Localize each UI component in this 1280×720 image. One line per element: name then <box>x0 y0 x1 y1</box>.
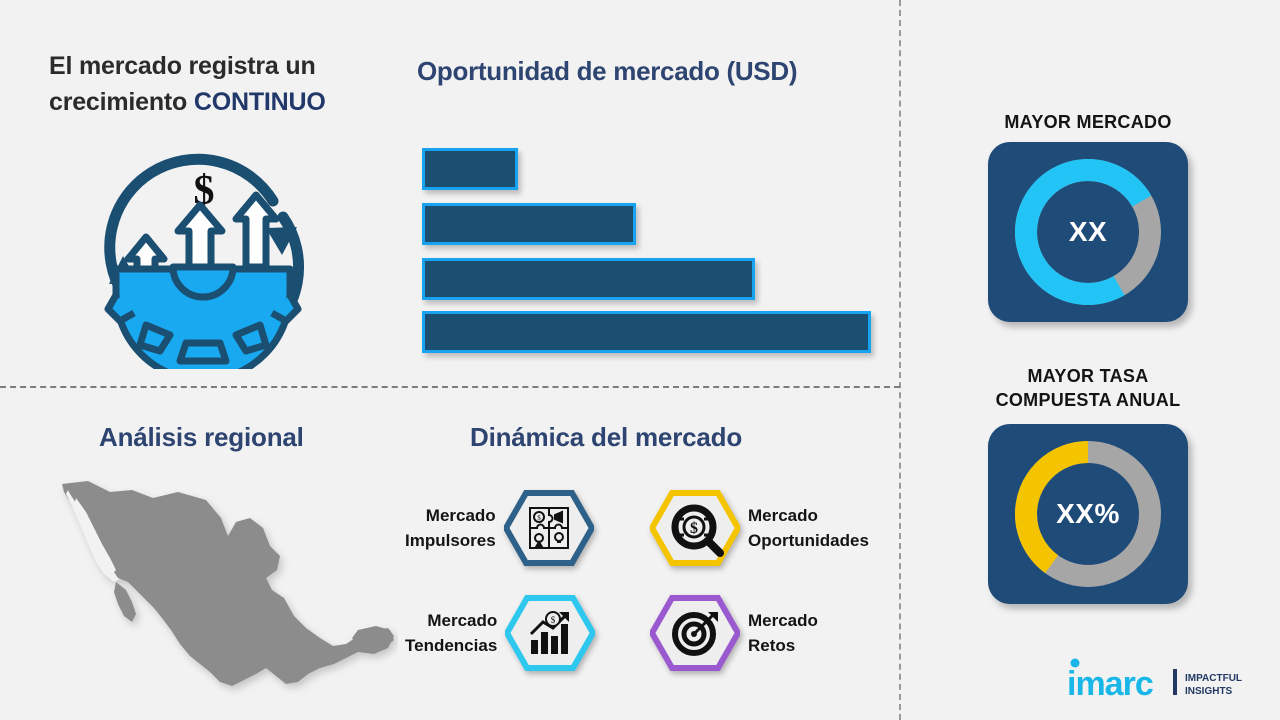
bar-2 <box>422 203 636 245</box>
logo-separator <box>1173 669 1177 695</box>
dynamics-item-challenges-label: MercadoRetos <box>748 608 818 659</box>
target-arrow-icon <box>650 594 740 672</box>
dynamics-item-opportunities[interactable]: $ MercadoOportunidades <box>650 489 869 567</box>
dynamics-item-trends[interactable]: MercadoTendencias $ <box>405 594 595 672</box>
mexico-map <box>58 478 398 700</box>
magnifier-dollar-icon: $ <box>650 489 740 567</box>
vertical-divider <box>899 0 901 720</box>
dynamics-item-opportunities-label: MercadoOportunidades <box>748 503 869 554</box>
stat-card-1-value: XX <box>988 142 1188 322</box>
region-heading: Análisis regional <box>99 422 399 453</box>
stat-card-2-title: MAYOR TASACOMPUESTA ANUAL <box>958 364 1218 413</box>
svg-text:$: $ <box>537 514 541 522</box>
puzzle-drivers-icon: $ <box>504 489 594 567</box>
opportunity-bar-chart <box>422 148 882 353</box>
growth-heading-line1: El mercado registra un <box>49 52 316 80</box>
dynamics-item-drivers[interactable]: MercadoImpulsores $ <box>405 489 594 567</box>
growth-heading: El mercado registra un crecimiento CONTI… <box>49 48 394 121</box>
bar-4 <box>422 311 871 353</box>
infographic-canvas: El mercado registra un crecimiento CONTI… <box>0 0 1280 720</box>
stat-card-1: XX <box>988 142 1188 322</box>
dynamics-item-drivers-label: MercadoImpulsores <box>405 503 496 554</box>
svg-text:$: $ <box>551 615 556 625</box>
logo-tagline-line1: IMPACTFUL <box>1185 673 1242 684</box>
dynamics-item-trends-label: MercadoTendencias <box>405 608 497 659</box>
bar-3 <box>422 258 755 300</box>
horizontal-divider <box>0 386 900 388</box>
svg-text:$: $ <box>690 520 698 537</box>
stat-card-1-title: MAYOR MERCADO <box>958 110 1218 134</box>
logo-tagline-line2: INSIGHTS <box>1185 686 1233 697</box>
dynamics-heading: Dinámica del mercado <box>470 422 890 453</box>
stat-card-2: XX% <box>988 424 1188 604</box>
imarc-logo: imarc IMPACTFUL INSIGHTS <box>1063 655 1253 705</box>
logo-wordmark: imarc <box>1067 665 1153 703</box>
bar-1 <box>422 148 518 190</box>
stat-card-2-value: XX% <box>988 424 1188 604</box>
dynamics-item-challenges[interactable]: MercadoRetos <box>650 594 818 672</box>
growth-bar-chart-icon: $ <box>505 594 595 672</box>
growth-heading-line2-accent: CONTINUO <box>194 88 326 116</box>
growth-heading-line2-plain: crecimiento <box>49 88 194 116</box>
growth-gear-arrows-dollar-icon: $ <box>78 139 328 369</box>
opportunity-heading: Oportunidad de mercado (USD) <box>417 56 887 87</box>
